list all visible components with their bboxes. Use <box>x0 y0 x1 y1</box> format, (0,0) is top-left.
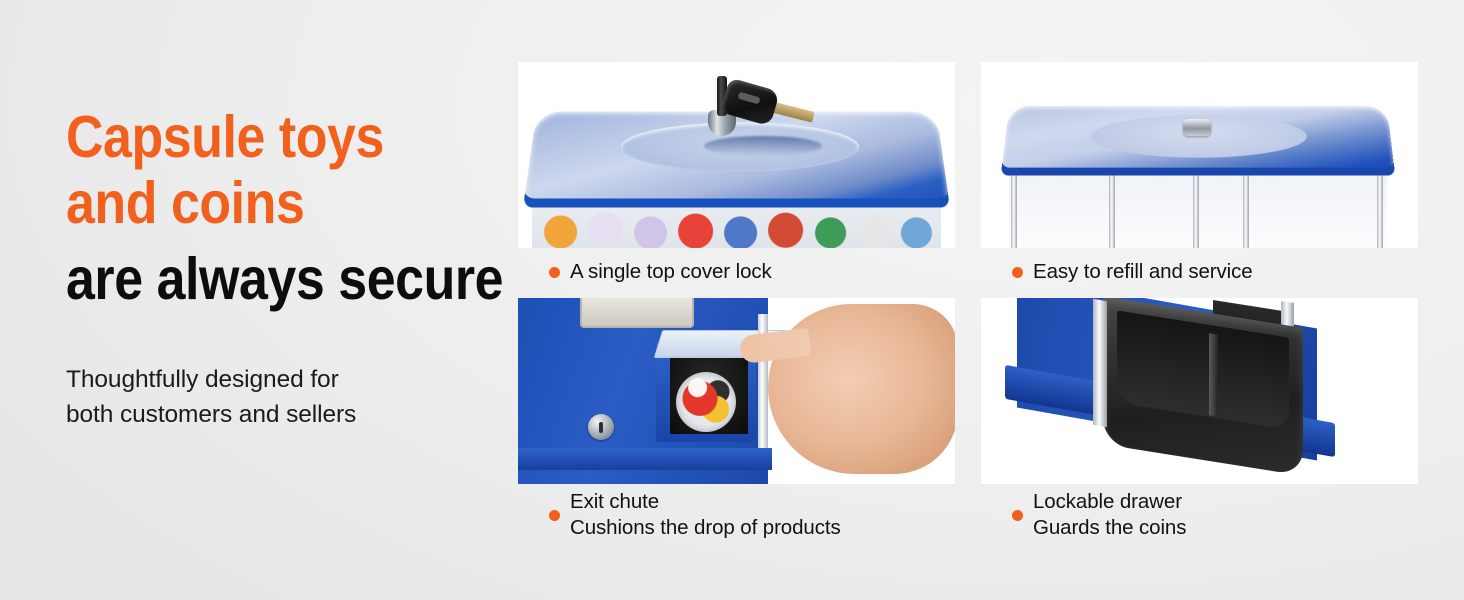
caption-line-2: Guards the coins <box>1033 515 1186 541</box>
key-reflection <box>704 136 822 156</box>
gallery-cell: Exit chute Cushions the drop of products <box>518 298 955 546</box>
subtitle-block: Thoughtfully designed for both customers… <box>66 362 506 432</box>
caption-text: Exit chute Cushions the drop of products <box>570 489 841 541</box>
bullet-dot-icon <box>1012 267 1023 278</box>
headline-line-2: and coins <box>66 170 453 236</box>
exit-chute-hand-photo <box>518 298 955 484</box>
cylinder-lock-icon <box>588 414 614 440</box>
top-cover-lock-photo <box>518 62 955 248</box>
capsules-fill <box>532 205 941 248</box>
caption-line-1: A single top cover lock <box>570 259 772 285</box>
caption-line-1: Easy to refill and service <box>1033 259 1253 285</box>
capsule-toy <box>676 372 736 432</box>
caption: A single top cover lock <box>518 248 955 296</box>
headline-line-1: Capsule toys <box>66 104 453 170</box>
caption: Lockable drawer Guards the coins <box>981 484 1418 546</box>
headline-block: Capsule toys and coins are always secure… <box>66 104 506 432</box>
caption-text: Lockable drawer Guards the coins <box>1033 489 1186 541</box>
coin-drawer-divider <box>1209 333 1218 416</box>
caption-line-2: Cushions the drop of products <box>570 515 841 541</box>
price-label <box>580 298 694 328</box>
caption: Easy to refill and service <box>981 248 1418 296</box>
coin-drawer-photo <box>981 298 1418 484</box>
subtitle-line-2: both customers and sellers <box>66 397 506 432</box>
lock-nut-icon <box>1183 119 1211 136</box>
blue-lid <box>523 111 950 207</box>
caption: Exit chute Cushions the drop of products <box>518 484 955 546</box>
feature-gallery: A single top cover lock Easy to refill a… <box>518 62 1418 546</box>
bullet-dot-icon <box>1012 510 1023 521</box>
blue-lid <box>1001 106 1396 176</box>
gallery-cell: Easy to refill and service <box>981 62 1418 296</box>
machine-rail <box>1093 299 1107 427</box>
gallery-cell: Lockable drawer Guards the coins <box>981 298 1418 546</box>
gallery-cell: A single top cover lock <box>518 62 955 296</box>
caption-line-1: Lockable drawer <box>1033 489 1186 515</box>
caption-line-1: Exit chute <box>570 489 841 515</box>
subtitle-line-1: Thoughtfully designed for <box>66 362 506 397</box>
bullet-dot-icon <box>549 510 560 521</box>
machine-base <box>518 448 772 470</box>
headline-line-3: are always secure <box>66 246 453 312</box>
bullet-dot-icon <box>549 267 560 278</box>
clear-hopper-photo <box>981 62 1418 248</box>
product-feature-banner: Capsule toys and coins are always secure… <box>0 0 1464 600</box>
